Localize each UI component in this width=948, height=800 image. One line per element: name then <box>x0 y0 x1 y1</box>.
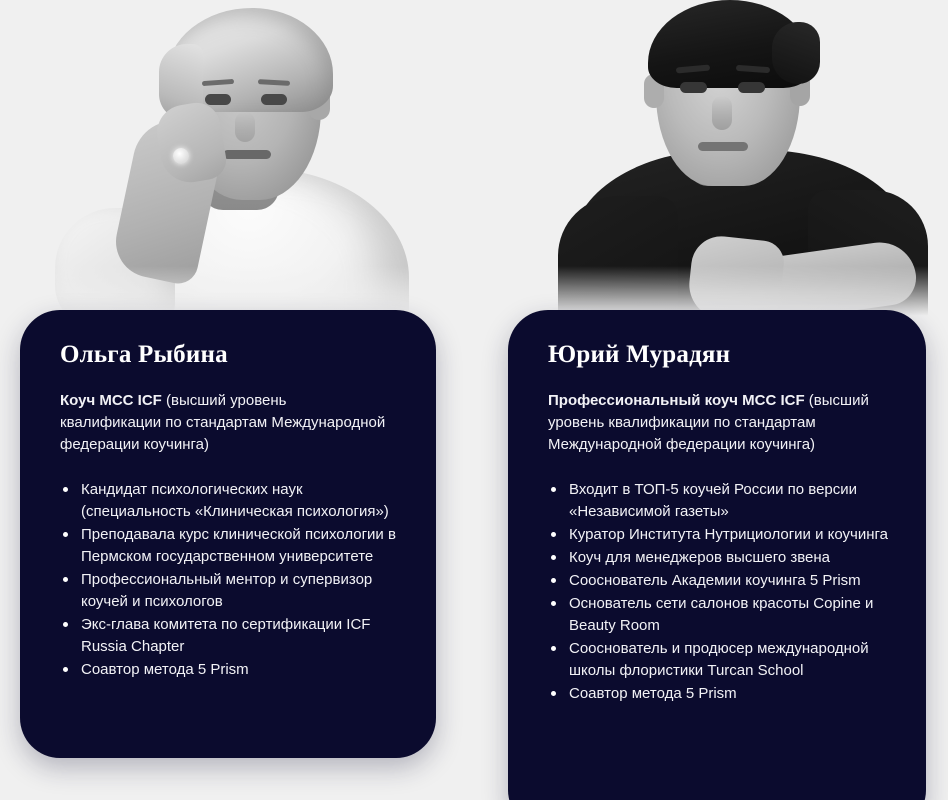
list-item: Входит в ТОП-5 коучей России по версии «… <box>548 479 892 523</box>
eye-right-shape <box>738 82 765 93</box>
list-item: Преподавала курс клинической психологии … <box>60 524 402 568</box>
coaches-section: Ольга Рыбина Коуч MCC ICF (высший уровен… <box>0 0 948 800</box>
list-item: Кандидат психологических наук (специальн… <box>60 479 402 523</box>
coach-card-olga-rybina: Ольга Рыбина Коуч MCC ICF (высший уровен… <box>20 310 436 758</box>
list-item: Соавтор метода 5 Prism <box>60 659 402 681</box>
list-item-text: Сооснователь Академии коучинга 5 Prism <box>569 572 861 589</box>
photo-olga-rybina <box>55 0 445 320</box>
list-item-text: Соавтор метода 5 Prism <box>81 661 249 678</box>
list-item: Основатель сети салонов красоты Copine и… <box>548 593 892 637</box>
bullet-icon <box>63 622 68 627</box>
bullet-icon <box>63 667 68 672</box>
list-item-text: Кандидат психологических наук (специальн… <box>81 481 389 520</box>
list-item-text: Основатель сети салонов красоты Copine и… <box>569 595 873 634</box>
list-item-text: Коуч для менеджеров высшего звена <box>569 549 830 566</box>
eye-right-shape <box>261 94 287 105</box>
coach-name: Ольга Рыбина <box>60 340 402 370</box>
coach-credential: Коуч MCC ICF (высший уровень квалификаци… <box>60 390 390 457</box>
list-item: Сооснователь и продюсер международной шк… <box>548 638 892 682</box>
mouth-shape <box>698 142 748 151</box>
list-item-text: Соавтор метода 5 Prism <box>569 685 737 702</box>
bullet-icon <box>551 555 556 560</box>
bullet-icon <box>551 487 556 492</box>
eye-left-shape <box>205 94 231 105</box>
credential-bold: Профессиональный коуч MCC ICF <box>548 392 805 409</box>
hair-curl-shape <box>772 22 820 84</box>
credential-bold: Коуч MCC ICF <box>60 392 162 409</box>
photo-yuriy-muradyan <box>540 0 940 320</box>
list-item: Соавтор метода 5 Prism <box>548 683 892 705</box>
ring-shape <box>173 148 189 164</box>
list-item-text: Куратор Института Нутрициологии и коучин… <box>569 526 888 543</box>
mouth-shape <box>223 150 271 159</box>
list-item-text: Экс-глава комитета по сертификации ICF R… <box>81 616 370 655</box>
bullet-icon <box>551 691 556 696</box>
bullet-icon <box>63 487 68 492</box>
list-item-text: Входит в ТОП-5 коучей России по версии «… <box>569 481 857 520</box>
list-item: Коуч для менеджеров высшего звена <box>548 547 892 569</box>
coach-card-yuriy-muradyan: Юрий Мурадян Профессиональный коуч MCC I… <box>508 310 926 800</box>
coach-achievements-list: Кандидат психологических наук (специальн… <box>60 479 402 681</box>
bullet-icon <box>63 532 68 537</box>
nose-shape <box>235 112 255 142</box>
bullet-icon <box>551 646 556 651</box>
coach-name: Юрий Мурадян <box>548 340 892 370</box>
bullet-icon <box>551 532 556 537</box>
bullet-icon <box>551 601 556 606</box>
list-item: Куратор Института Нутрициологии и коучин… <box>548 524 892 546</box>
coach-credential: Профессиональный коуч MCC ICF (высший ур… <box>548 390 892 457</box>
list-item: Профессиональный ментор и супервизор коу… <box>60 569 402 613</box>
bullet-icon <box>551 578 556 583</box>
list-item: Экс-глава комитета по сертификации ICF R… <box>60 614 402 658</box>
coach-achievements-list: Входит в ТОП-5 коучей России по версии «… <box>548 479 892 705</box>
list-item: Сооснователь Академии коучинга 5 Prism <box>548 570 892 592</box>
list-item-text: Сооснователь и продюсер международной шк… <box>569 640 869 679</box>
list-item-text: Профессиональный ментор и супервизор коу… <box>81 571 372 610</box>
eye-left-shape <box>680 82 707 93</box>
list-item-text: Преподавала курс клинической психологии … <box>81 526 396 565</box>
nose-shape <box>712 96 732 130</box>
bullet-icon <box>63 577 68 582</box>
